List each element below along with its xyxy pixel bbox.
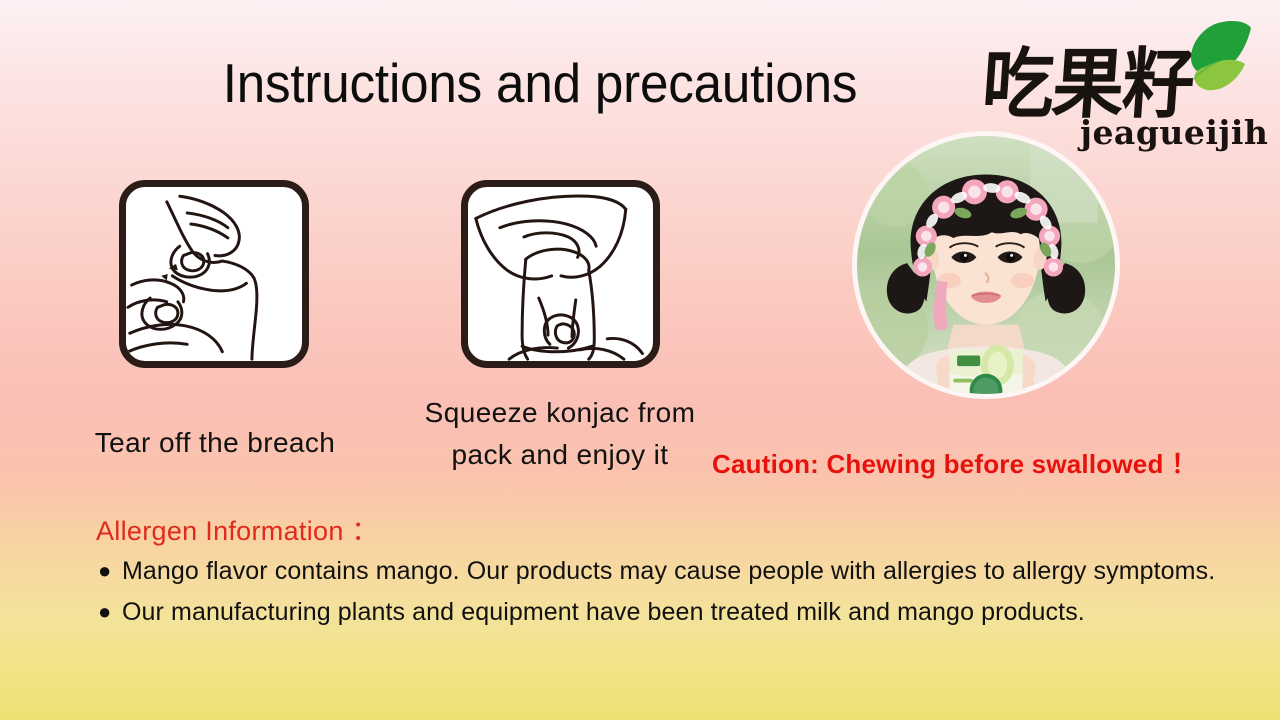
list-item: ● Our manufacturing plants and equipment… [98, 597, 1238, 627]
step-2-caption: Squeeze konjac from pack and enjoy it [390, 392, 730, 476]
list-item-text: Mango flavor contains mango. Our product… [122, 556, 1238, 586]
illustration-squeeze-pouch [461, 180, 660, 368]
bullet-icon: ● [98, 597, 122, 627]
leaf-icon [1163, 18, 1253, 98]
allergen-list: ● Mango flavor contains mango. Our produ… [98, 556, 1238, 638]
list-item: ● Mango flavor contains mango. Our produ… [98, 556, 1238, 586]
step-2-caption-line2: pack and enjoy it [390, 434, 730, 476]
step-2-caption-line1: Squeeze konjac from [390, 392, 730, 434]
caution-text: Caution: Chewing before swallowed ！ [712, 446, 1252, 482]
slide-canvas: Instructions and precautions 吃果籽 jeaguei… [0, 0, 1280, 720]
product-photo [852, 131, 1120, 399]
logo-wordmark: jeagueijih [1080, 116, 1268, 149]
tear-pouch-drawing [126, 187, 302, 361]
bullet-icon: ● [98, 556, 122, 586]
illustration-tear-pouch [119, 180, 309, 368]
girl-photo-illustration [857, 136, 1115, 394]
step-1-caption: Tear off the breach [60, 422, 370, 464]
list-item-text: Our manufacturing plants and equipment h… [122, 597, 1238, 627]
squeeze-pouch-drawing [468, 187, 653, 361]
allergen-information-title: Allergen Information ： [96, 514, 379, 548]
brand-logo: 吃果籽 jeagueijih [985, 22, 1265, 150]
page-title: Instructions and precautions [38, 56, 1042, 111]
